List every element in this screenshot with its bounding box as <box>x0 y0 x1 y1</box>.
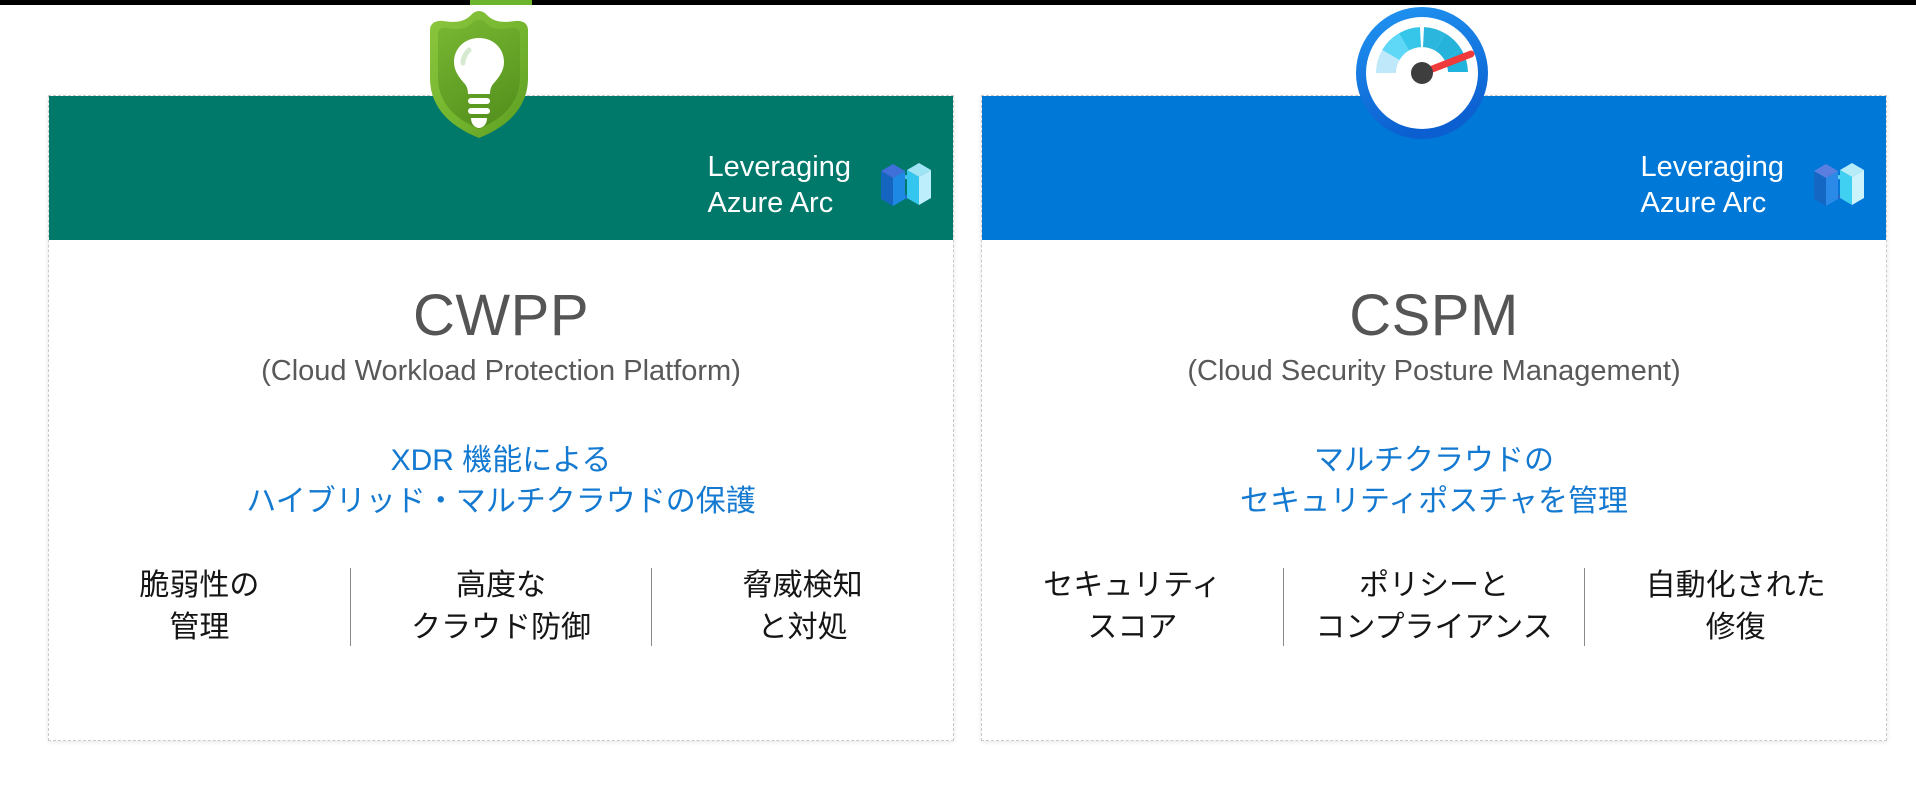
card-cwpp[interactable]: Leveraging Azure Arc <box>48 95 954 741</box>
card-cspm[interactable]: Leveraging Azure Arc CSPM <box>981 95 1887 741</box>
top-green-nub <box>470 0 532 5</box>
card-cwpp-expansion: (Cloud Workload Protection Platform) <box>49 355 953 388</box>
card-cwpp-acronym: CWPP <box>49 286 953 347</box>
leveraging-azure-arc-group: Leveraging Azure Arc <box>708 149 936 222</box>
azure-arc-icon <box>1804 153 1868 217</box>
leveraging-azure-arc-label: Leveraging Azure Arc <box>1641 149 1785 222</box>
pillar-item: 自動化された 修復 <box>1585 561 1886 654</box>
leveraging-azure-arc-label: Leveraging Azure Arc <box>708 149 852 222</box>
azure-arc-icon <box>871 153 935 217</box>
card-cspm-body: CSPM (Cloud Security Posture Management)… <box>982 240 1886 740</box>
pillar-item: ポリシーと コンプライアンス <box>1284 561 1585 654</box>
pillar-item: セキュリティ スコア <box>982 561 1283 654</box>
card-cwpp-pillars: 脆弱性の 管理 高度な クラウド防御 脅威検知 と対処 <box>49 561 953 654</box>
pillar-item: 脆弱性の 管理 <box>49 561 350 654</box>
card-cspm-acronym: CSPM <box>982 286 1886 347</box>
slide-canvas: Leveraging Azure Arc <box>0 0 1916 792</box>
top-black-strip <box>0 0 1916 5</box>
blue-gauge-speedometer-icon <box>1353 4 1491 142</box>
card-cspm-tagline: マルチクラウドの セキュリティポスチャを管理 <box>982 440 1886 523</box>
card-cwpp-tagline: XDR 機能による ハイブリッド・マルチクラウドの保護 <box>49 440 953 523</box>
card-cwpp-body: CWPP (Cloud Workload Protection Platform… <box>49 240 953 740</box>
card-cspm-pillars: セキュリティ スコア ポリシーと コンプライアンス 自動化された 修復 <box>982 561 1886 654</box>
card-cspm-expansion: (Cloud Security Posture Management) <box>982 355 1886 388</box>
leveraging-azure-arc-group: Leveraging Azure Arc <box>1641 149 1869 222</box>
pillar-item: 高度な クラウド防御 <box>351 561 652 654</box>
pillar-item: 脅威検知 と対処 <box>652 561 953 654</box>
green-shield-lightbulb-icon <box>420 6 538 142</box>
